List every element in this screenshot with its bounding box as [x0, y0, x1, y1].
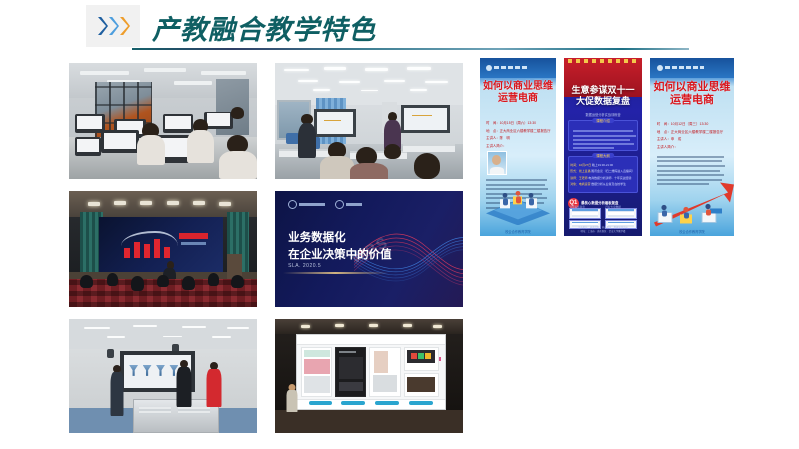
presentation-screen [296, 334, 446, 410]
poster-background: 如何以商业思维 运营电商 时 间：10月15日（周六）13:30 地 点：正大商… [480, 58, 556, 236]
student [137, 135, 165, 165]
teamwork-illustration-icon [480, 183, 556, 226]
audience-member [208, 273, 219, 286]
monitor [75, 114, 105, 133]
poster-footer: 校企合作教育学院 [650, 229, 734, 234]
screen-bar [134, 242, 140, 258]
poster-meta-bio-label: 主讲人简介： [486, 143, 551, 148]
poster-background: 生意参谋双十一 大促数据复盘 数据运营分析实战训练营 课程介绍 课程大纲 时间：… [564, 58, 642, 236]
agenda-list: 时间：10月27日 晚上19:30-21:00 形式：线上直播 腾讯会议（扫二维… [570, 163, 636, 189]
chevron-orange-icon [119, 16, 130, 36]
monitor [101, 130, 139, 153]
student [414, 153, 440, 179]
agenda-row: 形式：线上直播 腾讯会议（扫二维码进入直播间） [570, 169, 636, 173]
audience-member [80, 275, 93, 289]
slide-background: 业务数据化 在企业决策中的价值 SLA. 2020.5 WPS [275, 191, 463, 307]
dashboard-screenshot [605, 208, 636, 220]
audience-member [182, 276, 195, 290]
training-ceiling [69, 319, 257, 349]
screen-bar [154, 239, 160, 258]
nav-chip [375, 401, 399, 405]
product-tile [369, 347, 400, 398]
audience-member [131, 276, 144, 291]
product-tile [404, 373, 440, 397]
student [384, 144, 401, 159]
poster-meta-list: 时 间：10月15日（周六）13:30 地 点：正大商业区六楼教学楼二楼报告厅 … [486, 120, 551, 150]
slide-data-value-cover: 业务数据化 在企业决策中的价值 SLA. 2020.5 WPS [274, 190, 464, 308]
photo-lecture-room [274, 62, 464, 180]
product-tile [335, 347, 366, 398]
poster-meta-bio-label: 主讲人简介： [657, 145, 729, 150]
poster-footer: 校企合作教育学院 [480, 229, 556, 234]
auditorium-scene [69, 191, 257, 307]
student [320, 156, 354, 180]
monitor [163, 114, 193, 133]
dashboard-screenshot [569, 208, 600, 220]
poster-meta-place: 地 点：正大商业区六楼教学楼二楼报告厅 [486, 128, 551, 133]
screen-title-tag [179, 233, 209, 239]
screen-label [181, 242, 206, 245]
ecom-scene [275, 319, 463, 433]
decorative-dots [568, 59, 638, 63]
camera-icon [107, 349, 114, 358]
slide-header: 产教融合教学特色 [0, 0, 799, 58]
section-label-agenda: 课程大纲 [592, 153, 614, 158]
screen-line-chart [121, 231, 178, 246]
accent-glow-line [283, 272, 388, 274]
section-label-intro: 课程介绍 [592, 118, 614, 123]
poster-meta-speaker: 主讲人：陈 明 [486, 135, 551, 140]
nav-chip [409, 401, 433, 405]
logo-secondary-icon [335, 200, 362, 209]
desk [403, 144, 456, 152]
poster-title: 生意参谋双十一 大促数据复盘 [564, 86, 642, 107]
lecture-ceiling [275, 63, 463, 105]
question-title: 最核心数据分析看板复盘 [581, 200, 618, 205]
poster-meta-list: 时 间：10月12日（周三）13:30 地 点：正大商业区六楼教学楼二楼报告厅 … [657, 122, 729, 152]
logo-primary-icon [288, 200, 325, 209]
whiteboard-right [401, 105, 450, 133]
student [187, 130, 213, 162]
agenda-row: 对象：电商运营 数据分析从业者及在校学生 [570, 182, 636, 186]
presenter [286, 384, 298, 412]
screen-bar [144, 244, 150, 257]
poster-meta-time: 时 间：10月12日（周三）13:30 [657, 122, 729, 127]
screen-bar [164, 247, 170, 258]
person-left [110, 365, 124, 417]
poster-footer: 主办单位：电商学院 协办单位：数据运营中心 地址：上海市 · 浦东新区 · 企业… [564, 226, 642, 233]
nav-chip [309, 401, 333, 405]
hall-stage [275, 410, 463, 433]
shot-caption: 行业大盘数据 [605, 205, 621, 209]
audience-member [107, 273, 118, 286]
poster-title: 如何以商业思维 运营电商 [480, 81, 556, 105]
whiteboard-left [314, 109, 355, 137]
funnel-diagram [156, 365, 165, 376]
poster-illustration [480, 183, 556, 226]
poster-business-ecommerce-2: 如何以商业思维 运营电商 时 间：10月12日（周三）13:30 地 点：正大商… [650, 58, 734, 236]
triple-chevron-icon [86, 5, 140, 47]
slide-date: SLA. 2020.5 [288, 263, 321, 269]
poster-meta-speaker: 主讲人：申 成 [657, 137, 729, 142]
hall-ceiling [275, 319, 463, 334]
instructor [298, 123, 317, 158]
poster-org-logo [657, 63, 704, 72]
training-scene [69, 319, 257, 433]
poster-section-intro [568, 120, 638, 150]
chevron-light-blue-icon [108, 16, 119, 36]
poster-title: 如何以商业思维 运营电商 [650, 81, 734, 107]
student [231, 107, 244, 119]
screen-bar [124, 248, 130, 258]
agenda-row: 时间：10月27日 晚上19:30-21:00 [570, 163, 636, 167]
student [350, 163, 388, 180]
slide-logos [288, 200, 362, 209]
stage-led-screen [99, 217, 223, 273]
person-right [206, 362, 222, 408]
product-tile [301, 347, 332, 398]
student [219, 151, 257, 179]
poster-illustration [650, 172, 734, 229]
poster-org-logo [486, 63, 529, 72]
product-tile [404, 347, 440, 371]
intro-body-text [569, 121, 637, 149]
poster-double11-data-review: 生意参谋双十一 大促数据复盘 数据运营分析实战训练营 课程介绍 课程大纲 时间：… [564, 58, 642, 236]
page-title: 产教融合教学特色 [152, 8, 376, 47]
person-center [176, 360, 192, 408]
chevron-dark-blue-icon [97, 16, 108, 36]
growth-arrow-illustration-icon [650, 172, 734, 229]
poster-meta-place: 地 点：正大商业区六楼教学楼二楼报告厅 [657, 130, 729, 135]
shot-caption: 流量看板复盘 [569, 205, 585, 209]
poster-background: 如何以商业思维 运营电商 时 间：10月12日（周三）13:30 地 点：正大商… [650, 58, 734, 236]
funnel-diagram [129, 365, 138, 376]
lecture-scene [275, 63, 463, 179]
monitor [75, 137, 101, 156]
audience-member [231, 275, 244, 289]
speaker-portrait [487, 151, 507, 176]
poster-subtitle: 数据运营分析实战训练营 [564, 112, 642, 117]
agenda-row: 讲师：王老师 电商数据分析讲师 · 十年实战经验 [570, 176, 636, 180]
photo-computer-lab [68, 62, 258, 180]
photo-training-room [68, 318, 258, 434]
screen-toolbar [297, 335, 445, 345]
title-underline [132, 48, 689, 50]
poster-business-ecommerce-1: 如何以商业思维 运营电商 时 间：10月15日（周六）13:30 地 点：正大商… [480, 58, 556, 236]
slide-canvas: 产教融合教学特色 [0, 0, 799, 449]
funnel-diagram [143, 365, 152, 376]
poster-meta-time: 时 间：10月15日（周六）13:30 [486, 120, 551, 125]
audience-member [157, 275, 168, 288]
nav-chip [341, 401, 365, 405]
photo-ecommerce-presentation [274, 318, 464, 434]
lab-scene [69, 63, 257, 179]
monitor [204, 112, 232, 129]
photo-auditorium-lecture [68, 190, 258, 308]
